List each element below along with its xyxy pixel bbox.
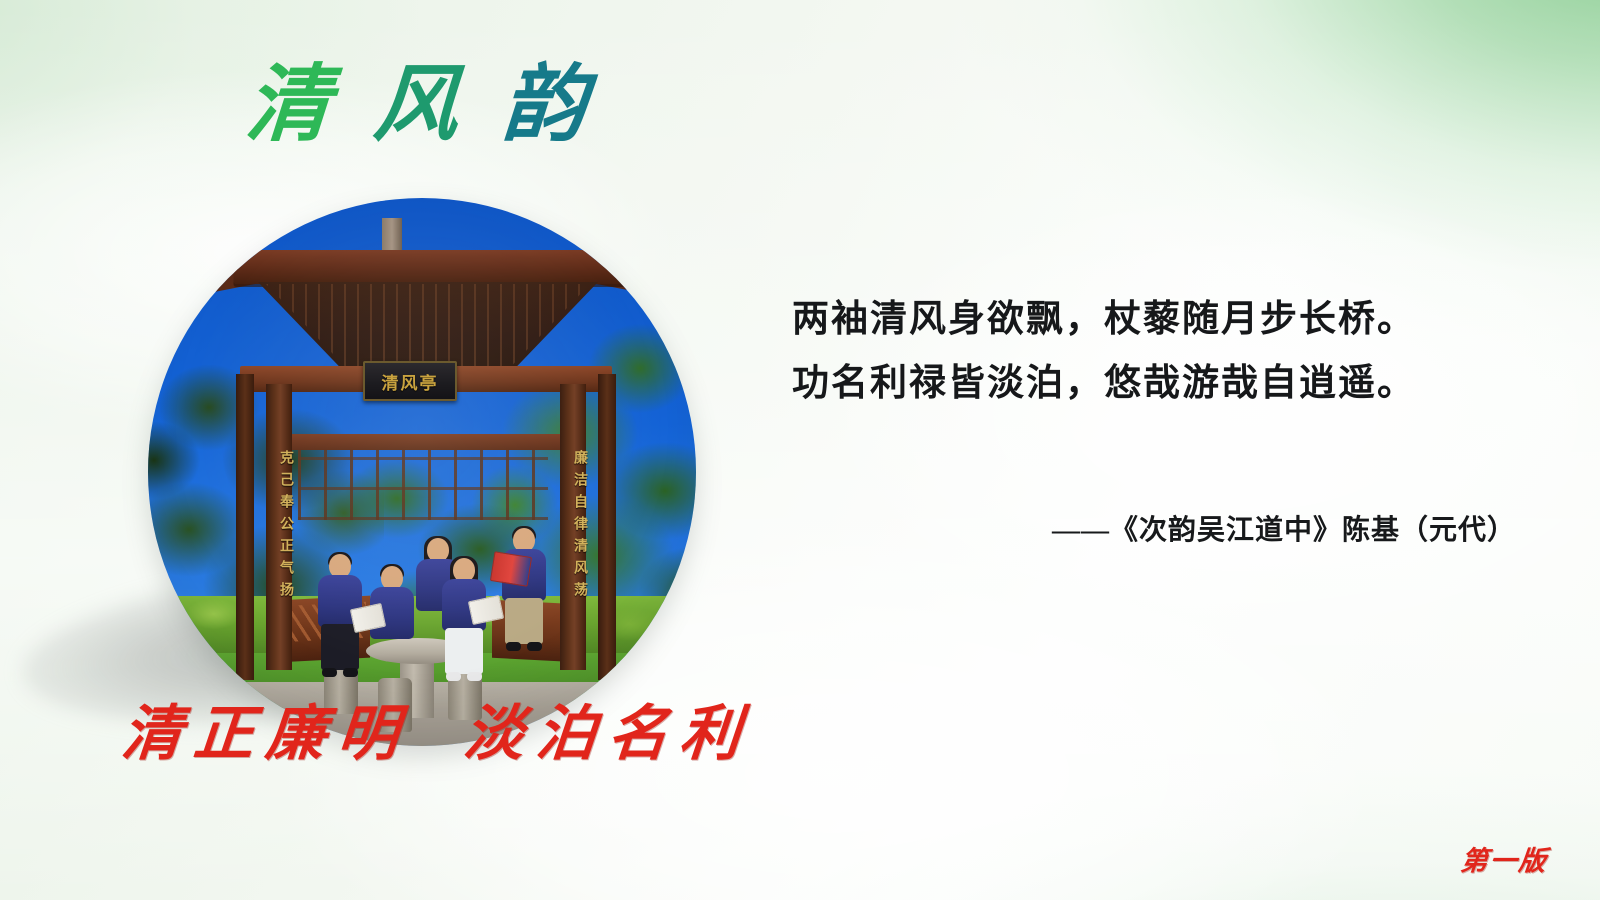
title-char-feng: 风 — [371, 64, 461, 148]
person-shoe — [343, 668, 358, 677]
edition-badge: 第一版 — [1459, 839, 1550, 878]
pavilion-plaque: 清风亭 — [363, 361, 457, 401]
person-legs — [505, 598, 543, 644]
person-shoe — [506, 642, 521, 651]
poem-line-2: 功名利禄皆淡泊，悠哉游哉自逍遥。 — [792, 352, 1452, 416]
pavilion-lattice — [298, 450, 548, 520]
slogan-part-two: 淡泊名利 — [461, 704, 754, 764]
person-legs — [445, 628, 483, 674]
person-shoe — [467, 672, 482, 681]
person-shoe — [322, 668, 337, 677]
circular-photo: 清风亭 克己奉公正气扬 廉洁自律清风荡 — [148, 198, 696, 746]
pavilion-pillar-outer-right — [598, 374, 616, 680]
couplet-left-text: 克己奉公正气扬 — [266, 402, 292, 652]
title-char-yun: 韵 — [499, 64, 589, 148]
slogan: 清正廉明 淡泊名利 — [122, 704, 752, 764]
roof-finial — [382, 218, 402, 254]
couplet-right-text: 廉洁自律清风荡 — [560, 402, 586, 652]
pavilion-pillar-outer-left — [236, 374, 254, 680]
page-title: 清 风 韵 — [246, 64, 586, 148]
poem-attribution: ——《次韵吴江道中》陈基（元代） — [1052, 508, 1516, 548]
person-shoe — [527, 642, 542, 651]
poem-line-1: 两袖清风身欲飘，杖藜随月步长桥。 — [792, 288, 1452, 352]
slogan-part-one: 清正廉明 — [119, 704, 412, 764]
poem-block: 两袖清风身欲飘，杖藜随月步长桥。 功名利禄皆淡泊，悠哉游哉自逍遥。 — [792, 288, 1452, 415]
pavilion-plaque-text: 清风亭 — [382, 369, 439, 394]
title-char-qing: 清 — [243, 64, 333, 148]
person-shoe — [446, 672, 461, 681]
pavilion-roof — [233, 250, 626, 284]
poster-canvas: 清 风 韵 清风亭 — [0, 0, 1600, 900]
pavilion-lower-beam — [280, 434, 570, 450]
pavilion-pillar-right: 廉洁自律清风荡 — [560, 384, 586, 670]
person-legs — [321, 624, 359, 670]
photo-scene: 清风亭 克己奉公正气扬 廉洁自律清风荡 — [148, 198, 696, 746]
book-red — [490, 551, 532, 587]
pavilion-pillar-left: 克己奉公正气扬 — [266, 384, 292, 670]
